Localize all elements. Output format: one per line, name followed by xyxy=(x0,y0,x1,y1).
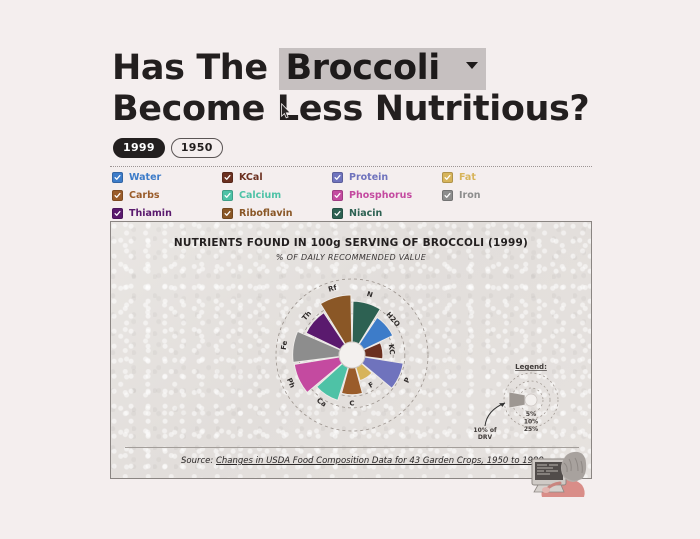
chart-subtitle: % OF DAILY RECOMMENDED VALUE xyxy=(111,253,591,262)
vegetable-dropdown-value: Broccoli xyxy=(285,48,439,88)
legend-sample-wedge xyxy=(509,392,525,408)
checkbox-water[interactable] xyxy=(112,172,123,183)
nutrient-filter-calcium[interactable]: Calcium xyxy=(222,190,305,201)
legend-callout-line1: 10% of xyxy=(473,427,497,434)
check-icon xyxy=(444,174,451,181)
check-icon xyxy=(224,210,231,217)
nutrient-filter-list: WaterKCalProteinFatCarbsCalciumPhosphoru… xyxy=(112,172,612,226)
checkbox-calcium[interactable] xyxy=(222,190,233,201)
nutrient-filter-riboflavin[interactable]: Riboflavin xyxy=(222,208,305,219)
nutrient-filter-kcal[interactable]: KCal xyxy=(222,172,305,183)
legend-arrow-icon xyxy=(485,403,505,426)
checkbox-phosphorus[interactable] xyxy=(332,190,343,201)
checkbox-fat[interactable] xyxy=(442,172,453,183)
check-icon xyxy=(334,174,341,181)
nutrient-filter-thiamin[interactable]: Thiamin xyxy=(112,208,195,219)
rose-slice-label: Ph xyxy=(285,377,296,390)
check-icon xyxy=(224,192,231,199)
nutrient-filter-carbs[interactable]: Carbs xyxy=(112,190,195,201)
legend-ring-label-1: 10% xyxy=(524,419,538,426)
rose-slice-label: N xyxy=(366,290,374,299)
nutrient-filter-label: Water xyxy=(129,173,161,183)
year-option-1999[interactable]: 1999 xyxy=(113,138,165,158)
chart-title: NUTRIENTS FOUND IN 100g SERVING OF BROCC… xyxy=(111,237,591,249)
year-option-1950[interactable]: 1950 xyxy=(171,138,223,158)
rose-slice-label: Ca xyxy=(315,397,328,409)
rose-chart[interactable]: NH2OKCPFCCaPhFeThRf xyxy=(234,270,470,440)
chevron-down-icon xyxy=(466,62,478,69)
rose-slice-label: F xyxy=(367,380,376,389)
nutrient-filter-niacin[interactable]: Niacin xyxy=(332,208,415,219)
check-icon xyxy=(224,174,231,181)
legend-title: Legend: xyxy=(515,363,547,371)
nutrient-filter-label: Calcium xyxy=(239,191,281,201)
nutrient-filter-label: Thiamin xyxy=(129,209,172,219)
source-note: Source: Changes in USDA Food Composition… xyxy=(181,456,544,466)
rose-slice-label: Th xyxy=(301,310,313,323)
page-title: Has The Broccoli Become Less Nutritious? xyxy=(112,48,632,129)
person-at-computer-illustration xyxy=(516,443,596,499)
check-icon xyxy=(114,210,121,217)
chart-panel: NUTRIENTS FOUND IN 100g SERVING OF BROCC… xyxy=(110,221,592,479)
check-icon xyxy=(114,192,121,199)
checkbox-protein[interactable] xyxy=(332,172,343,183)
checkbox-iron[interactable] xyxy=(442,190,453,201)
nutrient-filter-label: Phosphorus xyxy=(349,191,412,201)
checkbox-thiamin[interactable] xyxy=(112,208,123,219)
vegetable-dropdown[interactable]: Broccoli xyxy=(279,48,485,90)
legend-ring-label-0: 5% xyxy=(526,411,536,418)
nutrient-filter-water[interactable]: Water xyxy=(112,172,195,183)
nutrient-filter-label: Fat xyxy=(459,173,476,183)
check-icon xyxy=(114,174,121,181)
chart-header: NUTRIENTS FOUND IN 100g SERVING OF BROCC… xyxy=(111,237,591,262)
section-divider xyxy=(110,166,592,167)
rose-slice-label: KC xyxy=(387,344,396,355)
rose-slice-label: Rf xyxy=(327,283,338,293)
nutrient-filter-label: KCal xyxy=(239,173,263,183)
legend-ring-label-2: 25% xyxy=(524,426,538,433)
page-root: Has The Broccoli Become Less Nutritious?… xyxy=(0,0,700,539)
check-icon xyxy=(334,210,341,217)
rose-chart-hub xyxy=(339,342,365,368)
source-link[interactable]: Changes in USDA Food Composition Data fo… xyxy=(216,456,544,466)
checkbox-kcal[interactable] xyxy=(222,172,233,183)
nutrient-filter-label: Protein xyxy=(349,173,388,183)
nutrient-filter-phosphorus[interactable]: Phosphorus xyxy=(332,190,415,201)
rose-slice-label: Fe xyxy=(280,340,289,351)
rose-slice-label: P xyxy=(403,376,412,384)
nutrient-filter-iron[interactable]: Iron xyxy=(442,190,525,201)
nutrient-filter-label: Niacin xyxy=(349,209,382,219)
chart-legend: Legend:10% ofDRV5%10%25% xyxy=(469,360,585,440)
nutrient-filter-fat[interactable]: Fat xyxy=(442,172,525,183)
checkbox-niacin[interactable] xyxy=(332,208,343,219)
check-icon xyxy=(334,192,341,199)
nutrient-filter-protein[interactable]: Protein xyxy=(332,172,415,183)
nutrient-filter-label: Iron xyxy=(459,191,481,201)
legend-callout-line2: DRV xyxy=(478,434,493,440)
nutrient-filter-label: Carbs xyxy=(129,191,160,201)
checkbox-carbs[interactable] xyxy=(112,190,123,201)
title-line2: Become Less Nutritious? xyxy=(112,90,632,129)
rose-slice-label: C xyxy=(349,400,354,408)
title-prefix: Has The xyxy=(112,48,268,88)
checkbox-riboflavin[interactable] xyxy=(222,208,233,219)
legend-hub xyxy=(525,394,537,406)
nutrient-filter-label: Riboflavin xyxy=(239,209,293,219)
year-toggle-group[interactable]: 1999 1950 xyxy=(113,138,223,158)
footer-rule xyxy=(125,447,579,448)
check-icon xyxy=(444,192,451,199)
source-label: Source: xyxy=(181,456,213,466)
